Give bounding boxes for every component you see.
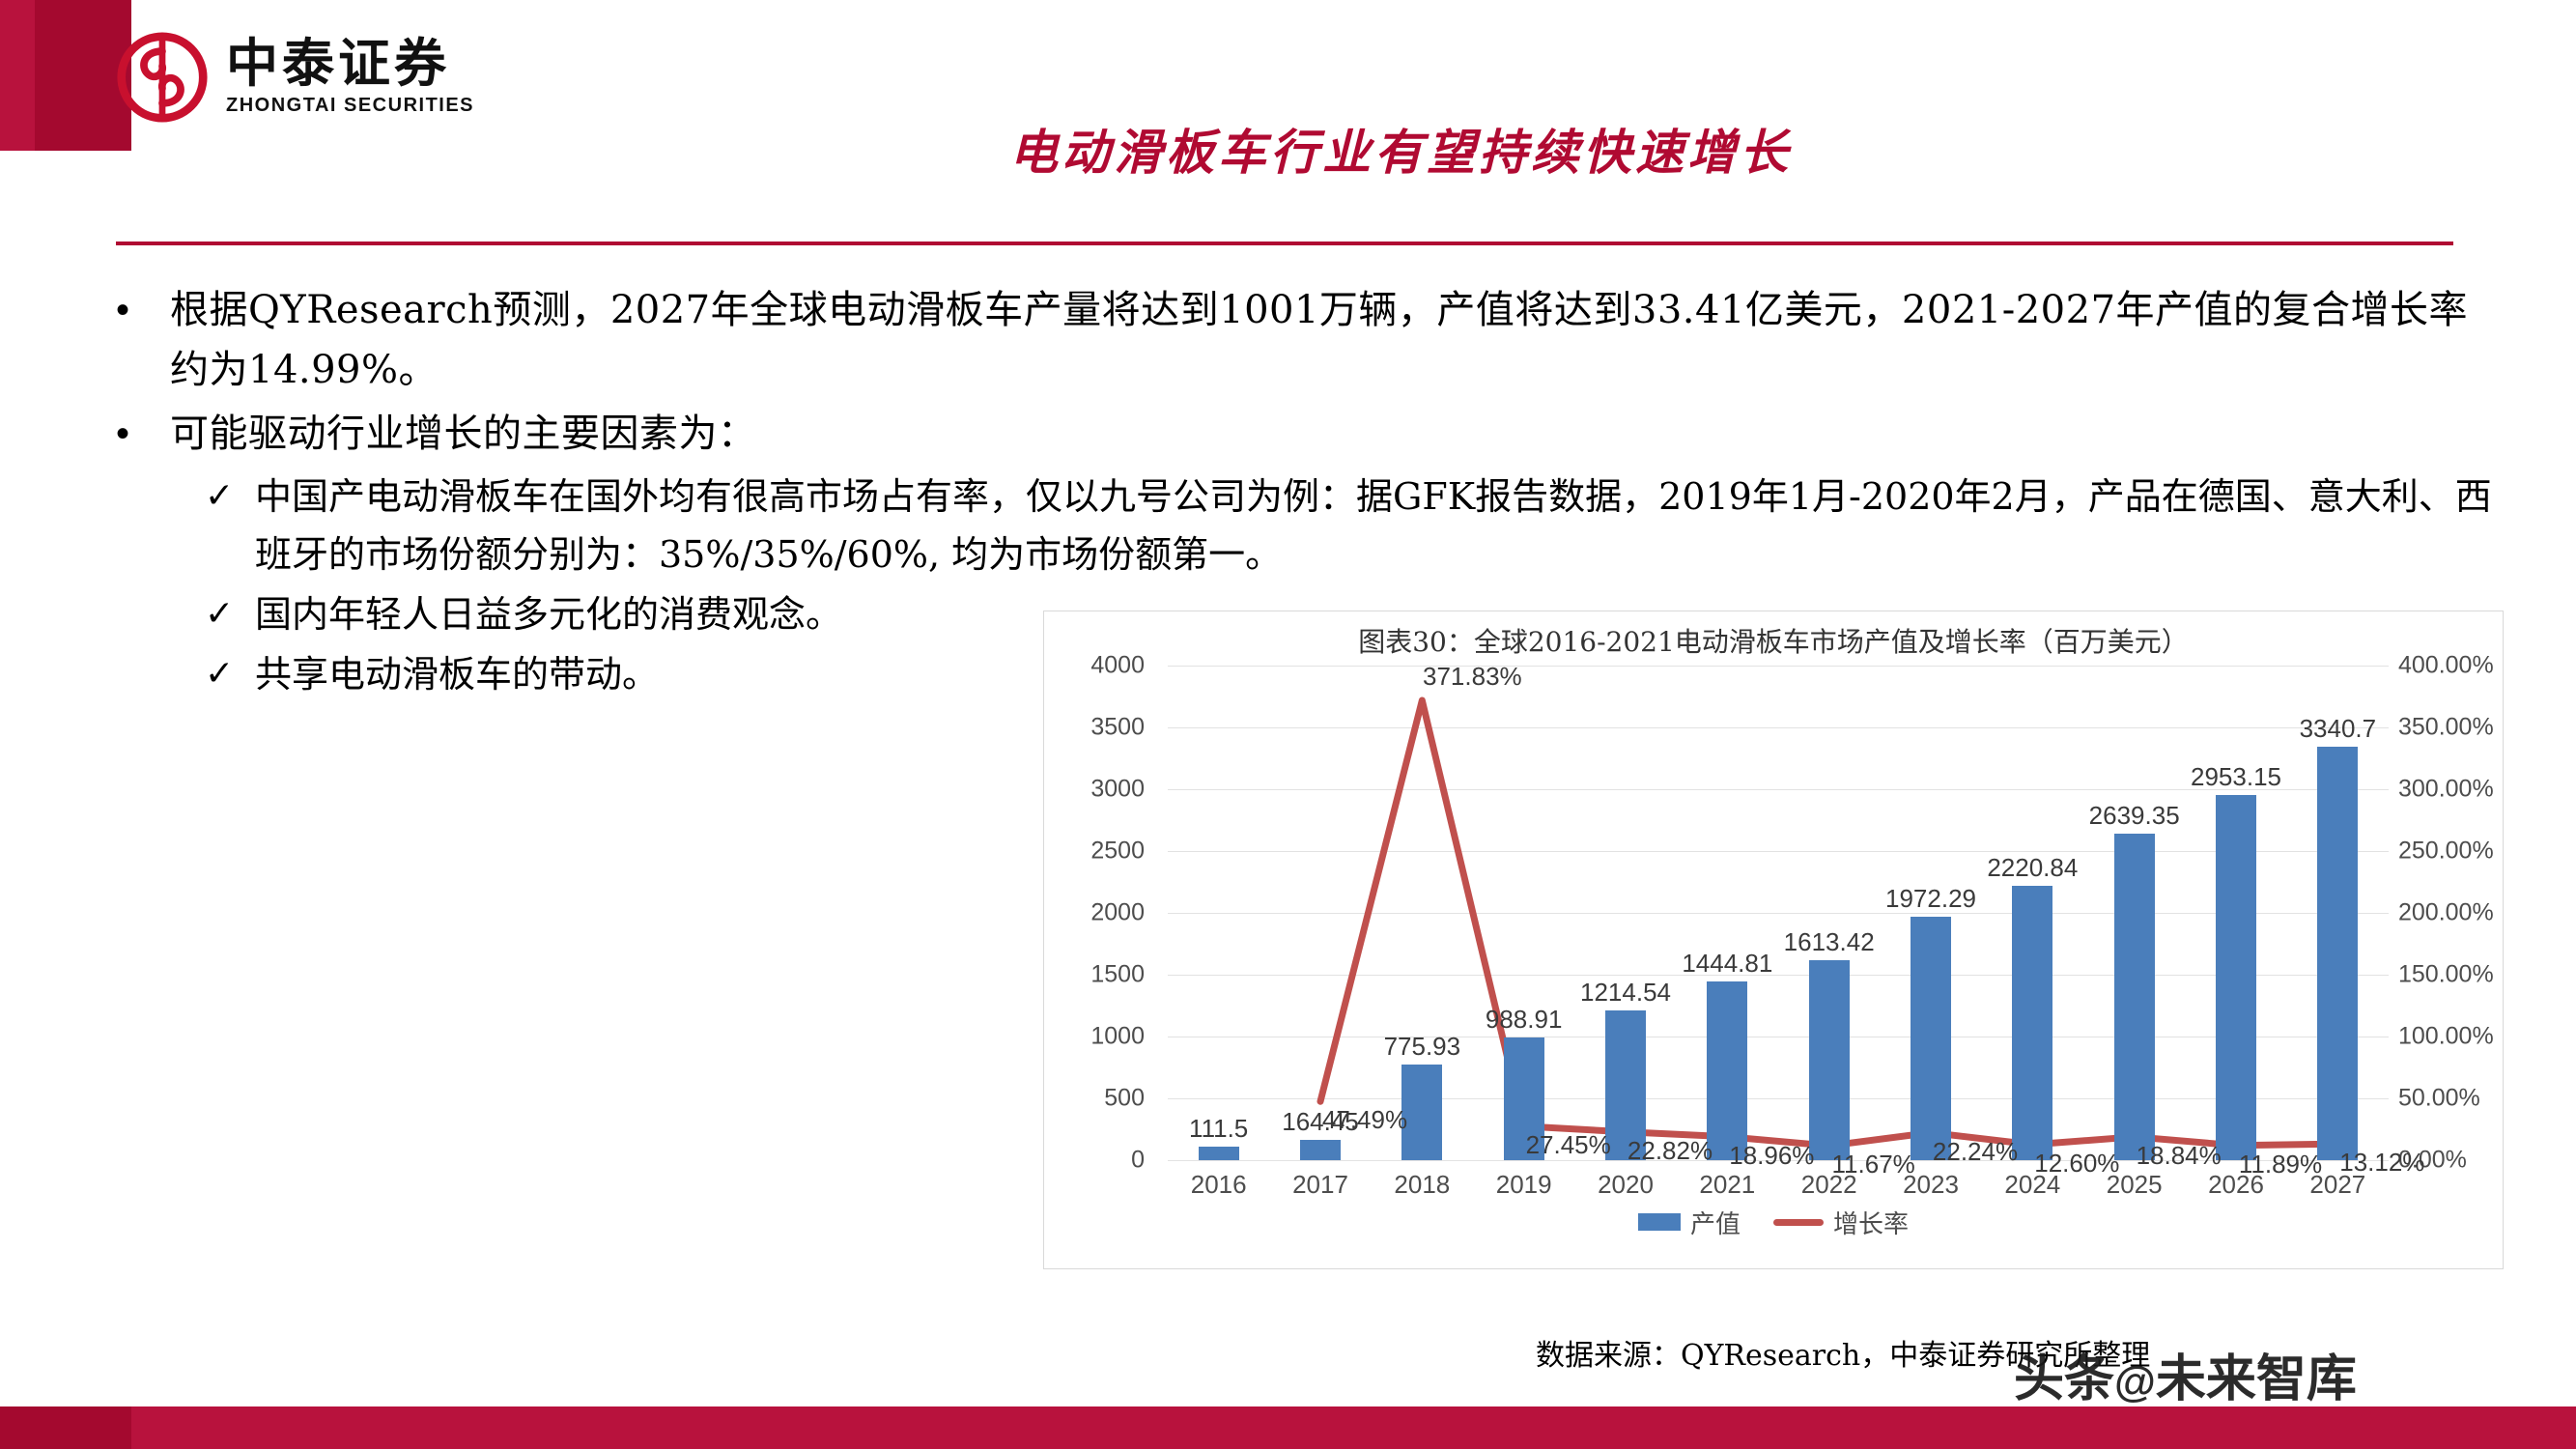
- line-value-label: 18.84%: [2137, 1141, 2222, 1171]
- legend-label: 产值: [1690, 1205, 1741, 1240]
- check-icon: ✓: [205, 468, 255, 526]
- chart-plot-area: 111.5164.45775.93988.911214.541444.81161…: [1168, 666, 2389, 1160]
- y-axis-left-tick: 0: [1131, 1147, 1145, 1175]
- chart-bar: [1199, 1147, 1239, 1160]
- line-value-label: 18.96%: [1729, 1141, 1814, 1171]
- page-title: 电动滑板车行业有望持续快速增长: [676, 114, 2125, 184]
- x-axis-tick: 2023: [1903, 1170, 1959, 1200]
- chart-bar: [1707, 981, 1747, 1160]
- brand-name-en: ZHONGTAI SECURITIES: [226, 95, 474, 117]
- chart-line-series: [1168, 666, 2389, 1160]
- line-value-label: 22.82%: [1628, 1136, 1713, 1166]
- bar-value-label: 1972.29: [1885, 884, 1976, 914]
- watermark: 头条@未来智库: [2014, 1338, 2357, 1410]
- y-axis-left-tick: 3000: [1090, 776, 1145, 804]
- bullet-item: • 根据QYResearch预测，2027年全球电动滑板车产量将达到1001万辆…: [116, 280, 2511, 400]
- bar-value-label: 2220.84: [1987, 853, 2078, 883]
- line-value-label: 47.49%: [1322, 1105, 1407, 1135]
- chart-y-axis-right: 0.00%50.00%100.00%150.00%200.00%250.00%3…: [2391, 666, 2503, 1160]
- chart-y-axis-left: 05001000150020002500300035004000: [1044, 666, 1158, 1160]
- header-accent-bar-outer: [0, 0, 35, 151]
- bar-value-label: 2953.15: [2191, 762, 2281, 792]
- y-axis-right-tick: 50.00%: [2398, 1085, 2480, 1113]
- legend-item: 产值: [1638, 1205, 1741, 1240]
- footer-accent-bar: [0, 1406, 2576, 1449]
- chart-bar: [1300, 1140, 1341, 1160]
- bullet-item: • 可能驱动行业增长的主要因素为：: [116, 404, 2511, 464]
- y-axis-right-tick: 300.00%: [2398, 776, 2494, 804]
- line-value-label: 27.45%: [1526, 1130, 1611, 1160]
- y-axis-left-tick: 1000: [1090, 1023, 1145, 1051]
- x-axis-tick: 2025: [2107, 1170, 2163, 1200]
- footer-accent-bar-dark: [0, 1406, 131, 1449]
- chart-bar: [2114, 834, 2155, 1160]
- x-axis-tick: 2022: [1801, 1170, 1857, 1200]
- legend-swatch: [1638, 1213, 1681, 1231]
- x-axis-tick: 2021: [1699, 1170, 1755, 1200]
- sub-bullet-item: ✓ 中国产电动滑板车在国外均有很高市场占有率，仅以九号公司为例：据GFK报告数据…: [205, 468, 2511, 583]
- sub-bullet-text: 国内年轻人日益多元化的消费观念。: [255, 585, 842, 643]
- check-icon: ✓: [205, 585, 255, 643]
- bar-value-label: 1214.54: [1580, 978, 1671, 1008]
- bar-value-label: 775.93: [1384, 1032, 1461, 1062]
- y-axis-right-tick: 400.00%: [2398, 652, 2494, 680]
- line-value-label: 371.83%: [1423, 662, 1522, 692]
- watermark-at: @: [2114, 1358, 2156, 1406]
- chart-title: 图表30：全球2016-2021电动滑板车市场产值及增长率（百万美元）: [1170, 625, 2377, 660]
- brand-name-cn: 中泰证券: [226, 38, 474, 91]
- sub-bullet-text: 中国产电动滑板车在国外均有很高市场占有率，仅以九号公司为例：据GFK报告数据，2…: [255, 468, 2511, 583]
- sub-bullet-text: 共享电动滑板车的带动。: [255, 645, 659, 703]
- chart-bar: [1401, 1065, 1442, 1160]
- x-axis-tick: 2018: [1394, 1170, 1450, 1200]
- y-axis-right-tick: 100.00%: [2398, 1023, 2494, 1051]
- bullet-text: 可能驱动行业增长的主要因素为：: [170, 404, 757, 464]
- watermark-left: 头条: [2014, 1351, 2114, 1407]
- bar-value-label: 3340.7: [2300, 714, 2377, 744]
- y-axis-left-tick: 2500: [1090, 838, 1145, 866]
- x-axis-tick: 2016: [1191, 1170, 1247, 1200]
- bar-value-label: 1444.81: [1682, 949, 1772, 979]
- y-axis-right-tick: 350.00%: [2398, 714, 2494, 742]
- zhongtai-logo-icon: [116, 31, 209, 124]
- legend-item: 增长率: [1773, 1205, 1909, 1240]
- y-axis-right-tick: 250.00%: [2398, 838, 2494, 866]
- chart-bar: [2317, 747, 2358, 1160]
- x-axis-tick: 2019: [1496, 1170, 1552, 1200]
- bar-value-label: 988.91: [1486, 1005, 1563, 1035]
- bar-value-label: 111.5: [1189, 1114, 1248, 1144]
- chart-bar: [2012, 886, 2052, 1160]
- x-axis-tick: 2027: [2309, 1170, 2365, 1200]
- legend-swatch: [1773, 1219, 1824, 1226]
- title-divider: [116, 241, 2453, 245]
- chart-legend: 产值增长率: [1044, 1203, 2503, 1241]
- chart-bar: [1809, 960, 1850, 1160]
- x-axis-tick: 2024: [2004, 1170, 2060, 1200]
- bar-value-label: 1613.42: [1784, 927, 1875, 957]
- line-value-label: 22.24%: [1933, 1137, 2018, 1167]
- bullet-marker: •: [116, 280, 170, 340]
- chart-container: 图表30：全球2016-2021电动滑板车市场产值及增长率（百万美元） 0500…: [1043, 611, 2504, 1269]
- legend-label: 增长率: [1833, 1205, 1909, 1240]
- y-axis-right-tick: 200.00%: [2398, 899, 2494, 927]
- x-axis-tick: 2020: [1598, 1170, 1654, 1200]
- check-icon: ✓: [205, 645, 255, 703]
- y-axis-left-tick: 3500: [1090, 714, 1145, 742]
- bullet-text: 根据QYResearch预测，2027年全球电动滑板车产量将达到1001万辆，产…: [170, 280, 2488, 400]
- bullet-marker: •: [116, 404, 170, 464]
- y-axis-left-tick: 500: [1104, 1085, 1145, 1113]
- chart-bar: [1911, 917, 1951, 1160]
- chart-bar: [2216, 795, 2256, 1160]
- y-axis-left-tick: 2000: [1090, 899, 1145, 927]
- brand-logo: 中泰证券 ZHONGTAI SECURITIES: [116, 19, 502, 135]
- watermark-right: 未来智库: [2156, 1351, 2357, 1407]
- bar-value-label: 2639.35: [2089, 801, 2180, 831]
- y-axis-left-tick: 4000: [1090, 652, 1145, 680]
- x-axis-tick: 2017: [1292, 1170, 1348, 1200]
- y-axis-left-tick: 1500: [1090, 961, 1145, 989]
- x-axis-tick: 2026: [2208, 1170, 2264, 1200]
- y-axis-right-tick: 150.00%: [2398, 961, 2494, 989]
